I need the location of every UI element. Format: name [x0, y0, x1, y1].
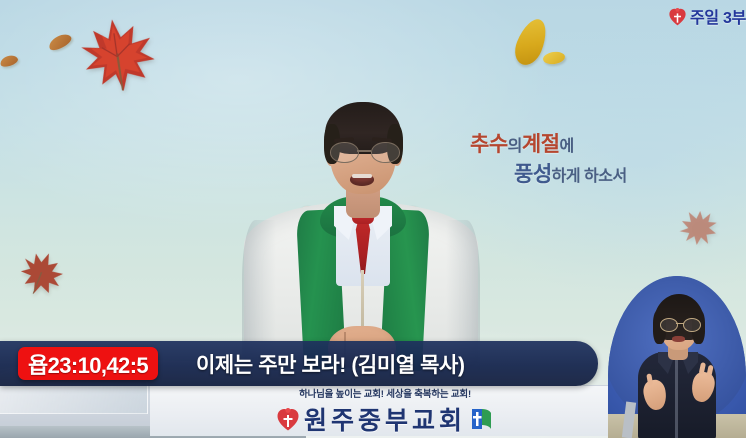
- backdrop-slogan-line-1: 추수의계절에: [470, 134, 730, 156]
- eyeglasses-icon: [660, 318, 700, 331]
- sermon-title: 이제는 주만 보라! (김미열 목사): [196, 341, 596, 386]
- service-badge: 주일 3부: [663, 2, 746, 30]
- maple-leaf-icon: [73, 9, 162, 101]
- church-name-banner: 하나님을 높이는 교회! 세상을 축복하는 교회! 원주중부교회: [150, 385, 620, 436]
- slogan-tail-2: 하게 하소서: [552, 168, 627, 185]
- interpreter-shirt-placket: [675, 360, 678, 438]
- sign-language-interpreter-pip: [608, 276, 746, 438]
- slogan-particle-1: 의: [508, 138, 522, 155]
- church-heart-logo-icon: [669, 7, 686, 26]
- preacher-figure: [236, 84, 486, 366]
- cross-flag-icon: [471, 407, 493, 431]
- slogan-particle-2: 에: [560, 138, 574, 155]
- eyeglasses-icon: [329, 142, 399, 162]
- scripture-reference-text: 욥23:10,42:5: [28, 348, 148, 380]
- scripture-reference-badge: 욥23:10,42:5: [18, 347, 158, 380]
- slogan-accent-abundance: 풍성: [514, 163, 552, 186]
- backdrop-slogan: 추수의계절에 풍성하게 하소서: [470, 134, 730, 186]
- church-heart-logo-icon: [277, 407, 299, 431]
- slogan-accent-season: 계절: [522, 133, 560, 156]
- service-badge-label: 주일 3부: [690, 4, 746, 28]
- church-name: 원주중부교회: [304, 401, 466, 437]
- video-stream-frame: 추수의계절에 풍성하게 하소서: [0, 0, 746, 438]
- church-tagline: 하나님을 높이는 교회! 세상을 축복하는 교회!: [299, 386, 471, 400]
- teeth: [352, 174, 372, 178]
- backdrop-slogan-line-2: 풍성하게 하소서: [470, 164, 730, 186]
- interpreter-mouth: [672, 336, 685, 342]
